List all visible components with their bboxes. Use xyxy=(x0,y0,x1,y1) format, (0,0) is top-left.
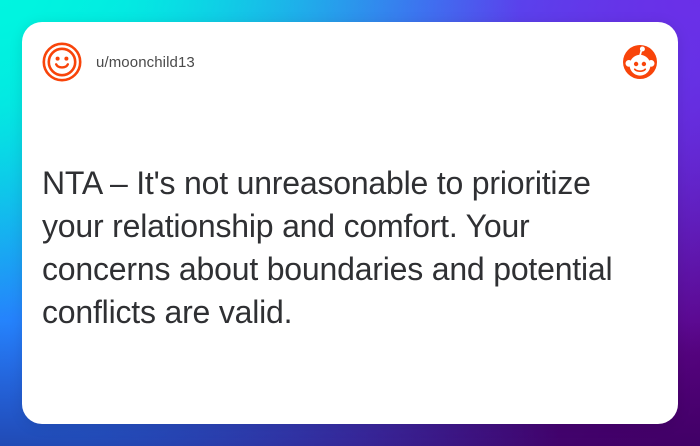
quote-body: NTA – It's not unreasonable to prioritiz… xyxy=(42,162,650,334)
quote-text: NTA – It's not unreasonable to prioritiz… xyxy=(42,162,650,334)
username-label: u/moonchild13 xyxy=(96,54,195,71)
reddit-snoo-icon xyxy=(622,44,658,80)
avatar xyxy=(42,42,82,82)
quote-card: u/moonchild13 NTA – It's not unreasonabl… xyxy=(22,22,678,424)
card-header: u/moonchild13 xyxy=(42,38,658,86)
